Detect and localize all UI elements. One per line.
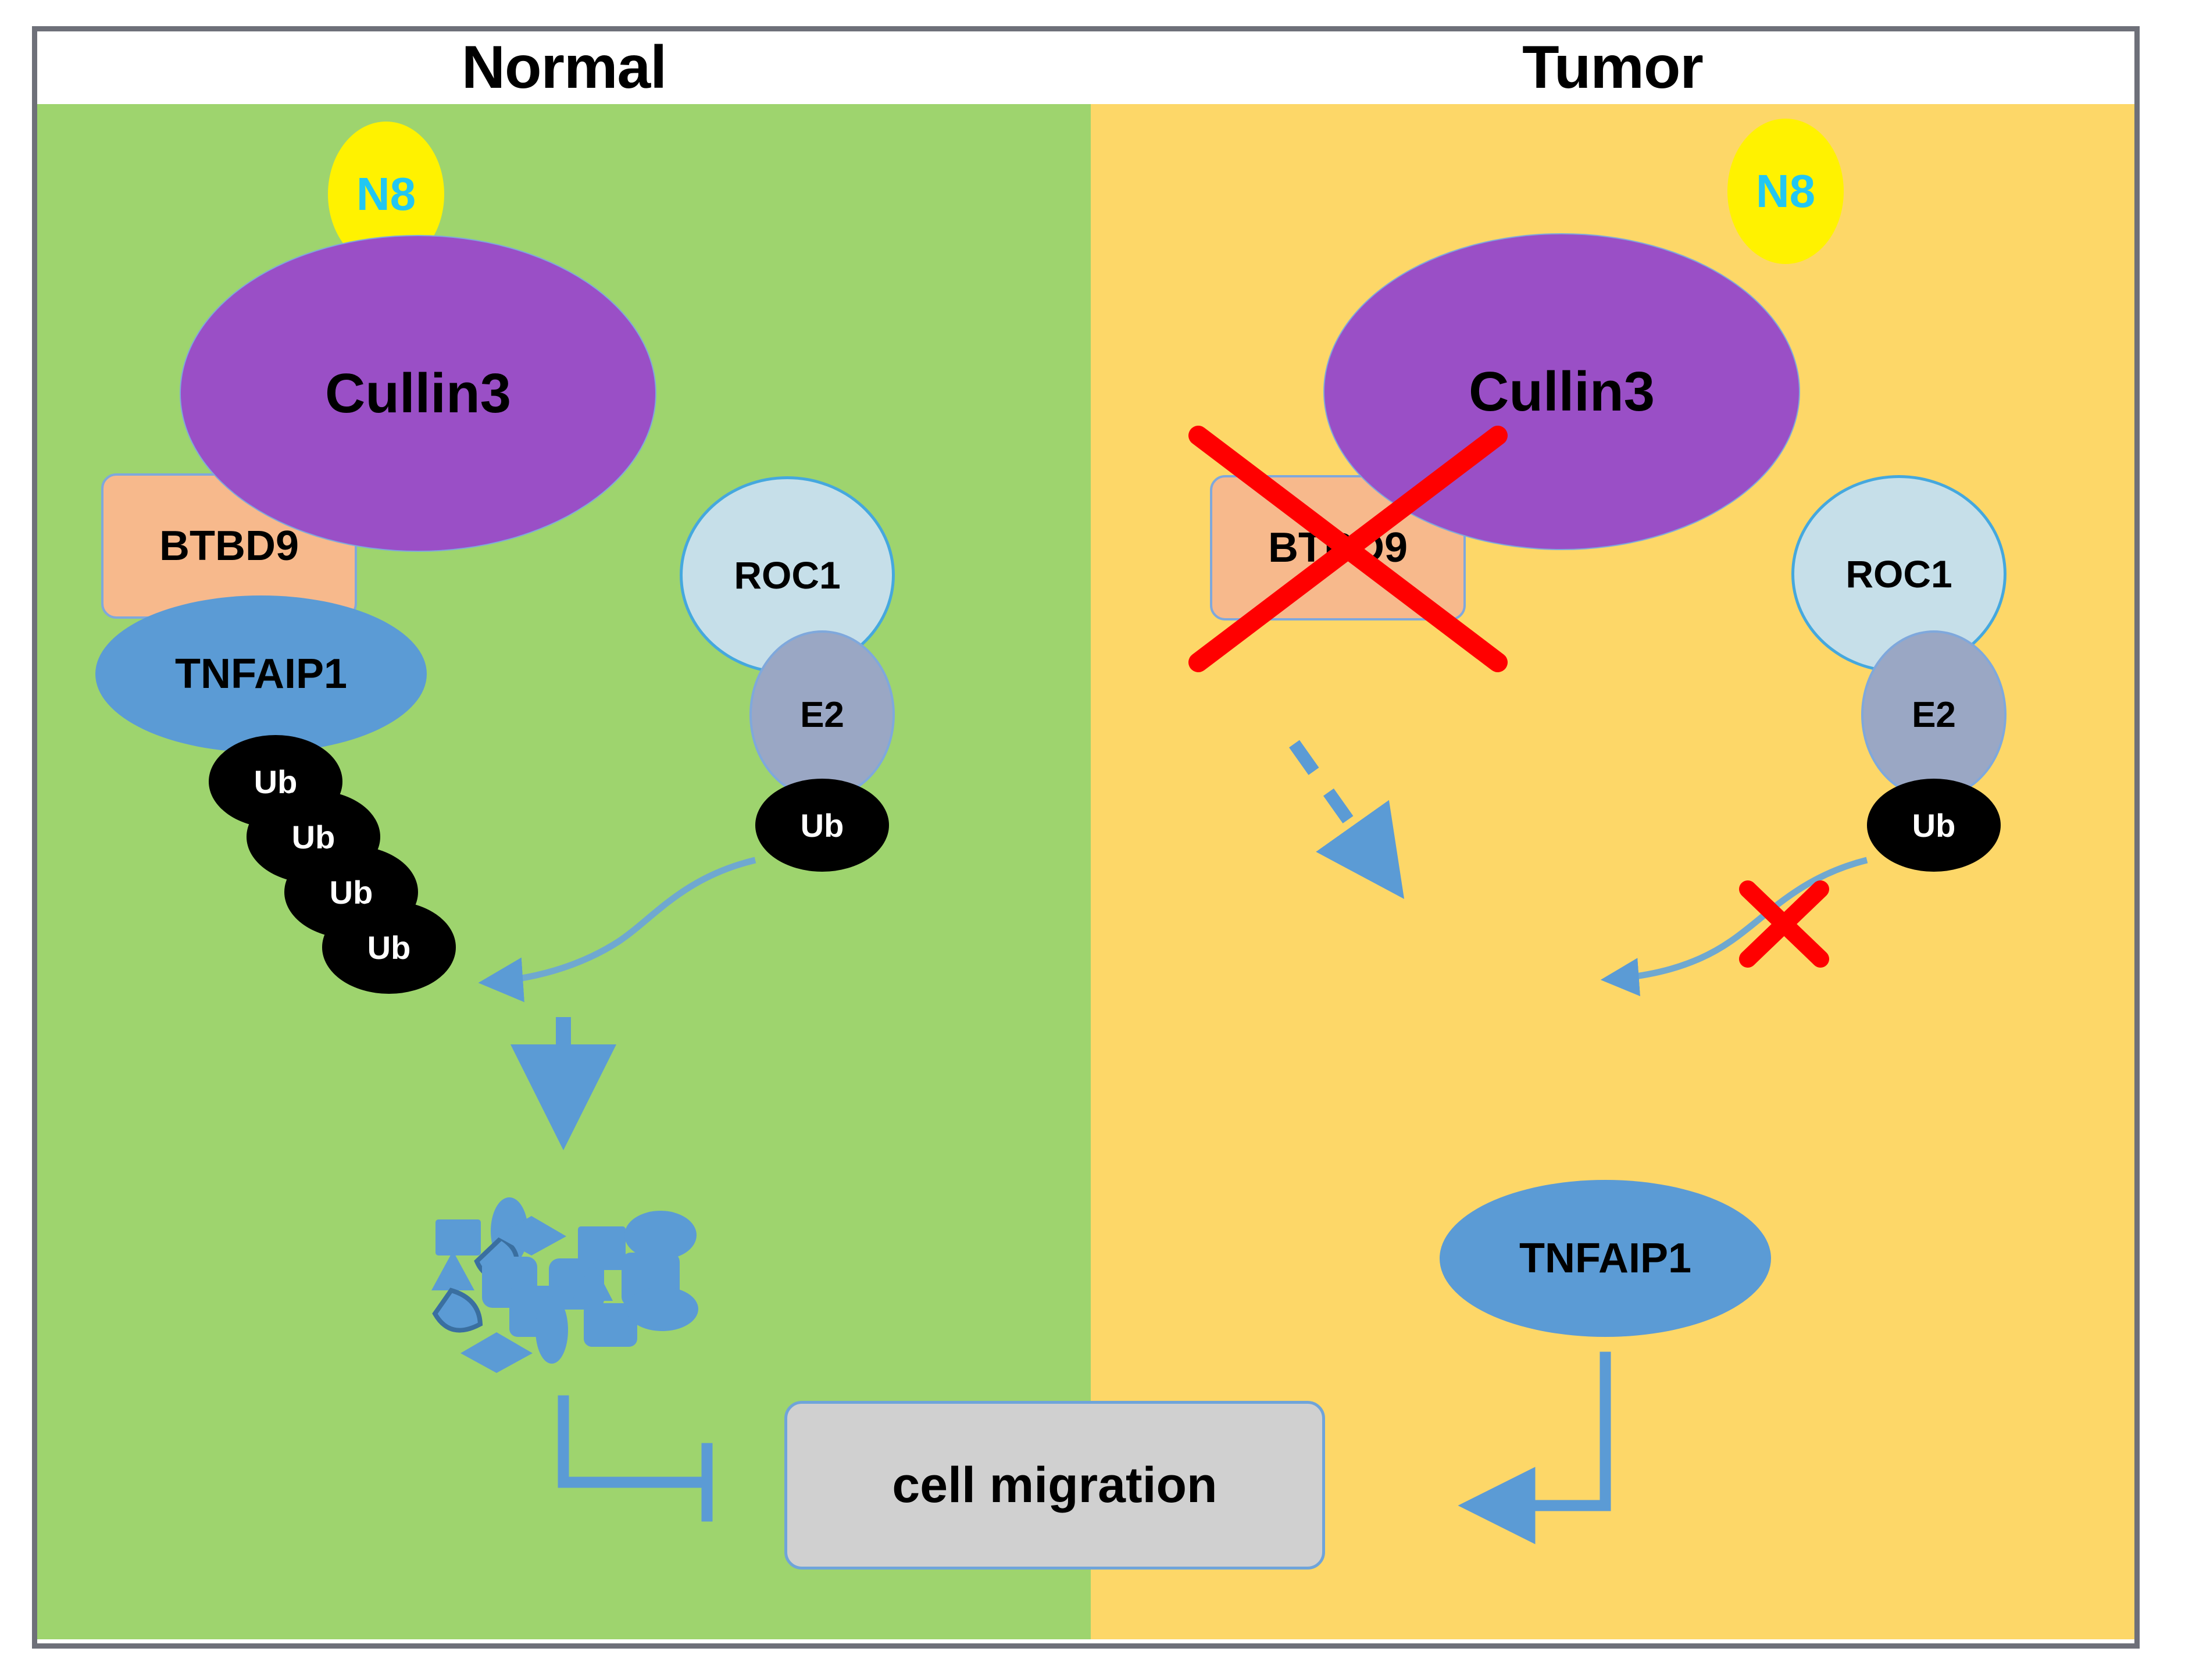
degradation-fragments — [431, 1197, 698, 1373]
node-n8-tumor: N8 — [1727, 119, 1844, 264]
ub-chain-item-4: Ub — [322, 901, 456, 994]
node-ub-e2-tumor: Ub — [1867, 779, 2001, 872]
node-ub-e2-normal: Ub — [755, 779, 889, 872]
node-cullin3-tumor: Cullin3 — [1323, 233, 1800, 550]
header-normal: Normal — [37, 31, 1091, 104]
ub-transfer-arrow-normal — [488, 860, 755, 982]
header-tumor: Tumor — [1091, 31, 2134, 104]
node-tnfaip1-tumor: TNFAIP1 — [1440, 1180, 1771, 1337]
figure-canvas: Normal Tumor N8 BTBD9 Cullin3 ROC1 TNFAI… — [0, 0, 2185, 1680]
inhibition-connector-normal — [563, 1401, 707, 1482]
node-e2-tumor: E2 — [1861, 630, 2007, 799]
node-e2-normal: E2 — [749, 630, 895, 799]
promotion-connector-tumor — [1474, 1357, 1605, 1506]
btbd9-loss-dashed-arrow — [1294, 744, 1393, 883]
node-tnfaip1-normal: TNFAIP1 — [95, 595, 427, 752]
node-cell-migration: cell migration — [784, 1401, 1325, 1570]
node-cullin3-normal: Cullin3 — [180, 235, 656, 552]
figure-frame: Normal Tumor N8 BTBD9 Cullin3 ROC1 TNFAI… — [32, 26, 2140, 1649]
ub-transfer-arrow-tumor — [1608, 860, 1867, 979]
ub-transfer-blocked-cross — [1748, 889, 1820, 959]
